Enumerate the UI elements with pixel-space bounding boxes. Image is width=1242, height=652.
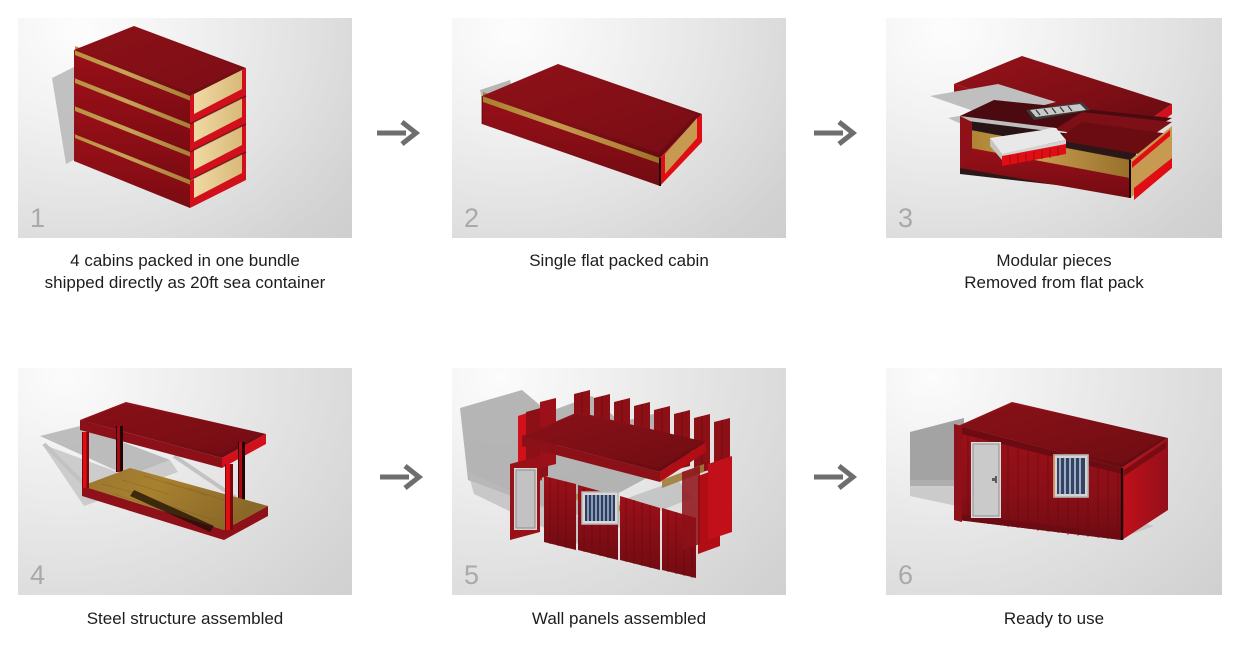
arrow-right-icon [812,462,858,492]
scene-finished-cabin [886,368,1222,595]
step-5-number: 5 [464,562,479,589]
scene-wall-panels [452,368,786,595]
step-1-number: 1 [30,205,45,232]
step-1-image: 1 [18,18,352,238]
step-3-image: 3 [886,18,1222,238]
scene-four-stacked-flat-packs [18,18,352,238]
step-4-caption: Steel structure assembled [0,608,382,630]
scene-single-flat-pack [452,18,786,238]
step-2-caption: Single flat packed cabin [422,250,816,272]
step-6-image: 6 [886,368,1222,595]
step-6-caption: Ready to use [866,608,1242,630]
arrow-right-icon [375,118,421,148]
step-4-image: 4 [18,368,352,595]
step-3-number: 3 [898,205,913,232]
scene-flat-pack-opened [886,18,1222,238]
arrow-step1-to-step2 [375,118,421,148]
arrow-step2-to-step3 [812,118,858,148]
arrow-right-icon [812,118,858,148]
step-4-number: 4 [30,562,45,589]
step-3-caption: Modular pieces Removed from flat pack [866,250,1242,294]
step-2-image: 2 [452,18,786,238]
step-1-caption: 4 cabins packed in one bundle shipped di… [0,250,382,294]
arrow-right-icon [378,462,424,492]
arrow-step5-to-step6 [812,462,858,492]
scene-steel-frame [18,368,352,595]
step-2-number: 2 [464,205,479,232]
arrow-step4-to-step5 [378,462,424,492]
step-6-number: 6 [898,562,913,589]
step-5-caption: Wall panels assembled [422,608,816,630]
step-5-image: 5 [452,368,786,595]
assembly-sequence-diagram: 1 4 cabins packed in one bundle shipped … [0,0,1242,652]
